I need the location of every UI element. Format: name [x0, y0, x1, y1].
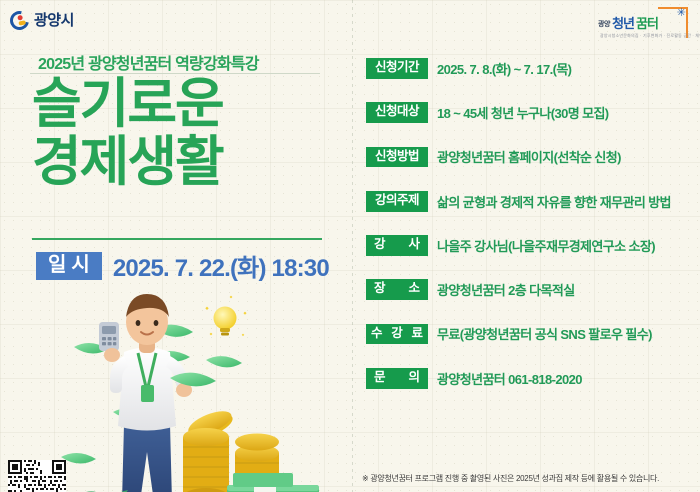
brand-logo-prefix: 광양	[598, 21, 610, 30]
yellow-dot-icon	[18, 20, 26, 25]
info-label: 장소	[366, 279, 428, 300]
title-divider	[32, 238, 322, 240]
info-value: 2025. 7. 8.(화) ~ 7. 17.(목)	[437, 59, 571, 78]
info-value: 광양청년꿈터 2층 다목적실	[437, 280, 575, 299]
info-value: 광양청년꿈터 홈페이지(선착순 신청)	[437, 147, 621, 166]
info-label: 신청대상	[366, 102, 428, 123]
datetime-block: 일시 2025. 7. 22.(화) 18:30	[36, 248, 329, 283]
info-row-application-period: 신청기간 2025. 7. 8.(화) ~ 7. 17.(목)	[366, 58, 696, 79]
qr-code-icon[interactable]	[8, 460, 66, 492]
poster-canvas: 광양시 ✳ 광양 청년 꿈터 광양시청소년문화의집 · 기후변화가 · 진로활동…	[0, 0, 700, 492]
info-label: 문의	[366, 368, 428, 389]
info-row-how-to-apply: 신청방법 광양청년꿈터 홈페이지(선착순 신청)	[366, 147, 696, 168]
info-label: 신청방법	[366, 147, 428, 168]
footer-disclaimer: ※ 광양청년꿈터 프로그램 진행 중 촬영된 사진은 2025년 성과집 제작 …	[362, 473, 659, 484]
youth-dream-center-logo: ✳ 광양 청년 꿈터 광양시청소년문화의집 · 기후변화가 · 진로활동 공간 …	[596, 6, 692, 44]
datetime-value: 2025. 7. 22.(화) 18:30	[113, 248, 329, 283]
info-value: 무료(광양청년꿈터 공식 SNS 팔로우 필수)	[437, 324, 652, 343]
event-subtitle: 2025년 광양청년꿈터 역량강화특강	[38, 50, 259, 74]
gwangyang-city-logo: 광양시	[10, 11, 74, 30]
title-line-1: 슬기로운	[32, 76, 332, 134]
cash-bundle-icon	[220, 473, 319, 492]
info-label: 강사	[366, 235, 428, 256]
qr-application-block[interactable]: ▲신청하러 가기	[8, 460, 138, 492]
info-row-venue: 장소 광양청년꿈터 2층 다목적실	[366, 279, 696, 300]
info-label: 신청기간	[366, 58, 428, 79]
left-panel: 2025년 광양청년꿈터 역량강화특강 슬기로운 경제생활 일시 2025. 7…	[0, 40, 352, 492]
info-row-contact: 문의 광양청년꿈터 061-818-2020	[366, 368, 696, 389]
title-line-2: 경제생활	[32, 134, 332, 192]
brand-logo-subtext: 광양시청소년문화의집 · 기후변화가 · 진로활동 공간 · 체험공간	[600, 33, 700, 39]
info-row-lecture-topic: 강의주제 삶의 균형과 경제적 자유를 향한 재무관리 방법	[366, 191, 696, 212]
gwangyang-city-mark-icon	[6, 7, 32, 33]
info-row-eligibility: 신청대상 18 ~ 45세 청년 누구나(30명 모집)	[366, 102, 696, 123]
info-row-lecturer: 강사 나을주 강사님(나을주재무경제연구소 소장)	[366, 235, 696, 256]
info-value: 광양청년꿈터 061-818-2020	[437, 369, 582, 388]
page-title: 슬기로운 경제생활	[32, 76, 332, 192]
datetime-label-badge: 일시	[36, 252, 102, 280]
info-panel: 신청기간 2025. 7. 8.(화) ~ 7. 17.(목) 신청대상 18 …	[366, 58, 696, 412]
lightbulb-icon	[205, 296, 246, 337]
brand-logo-wordmark: 광양 청년 꿈터	[598, 17, 658, 30]
info-label: 수강료	[366, 324, 428, 345]
star-icon: ✳	[677, 8, 686, 19]
info-label: 강의주제	[366, 191, 428, 212]
info-value: 나을주 강사님(나을주재무경제연구소 소장)	[437, 236, 655, 255]
green-swoosh-arrow-icon	[84, 486, 130, 492]
info-value: 삶의 균형과 경제적 자유를 향한 재무관리 방법	[437, 192, 671, 211]
brand-logo-main-green: 꿈터	[636, 17, 658, 30]
city-logo-name: 광양시	[34, 13, 74, 28]
brand-logo-main-blue: 청년	[612, 17, 634, 30]
info-row-fee: 수강료 무료(광양청년꿈터 공식 SNS 팔로우 필수)	[366, 324, 696, 345]
column-divider	[352, 0, 353, 492]
info-value: 18 ~ 45세 청년 누구나(30명 모집)	[437, 103, 609, 122]
